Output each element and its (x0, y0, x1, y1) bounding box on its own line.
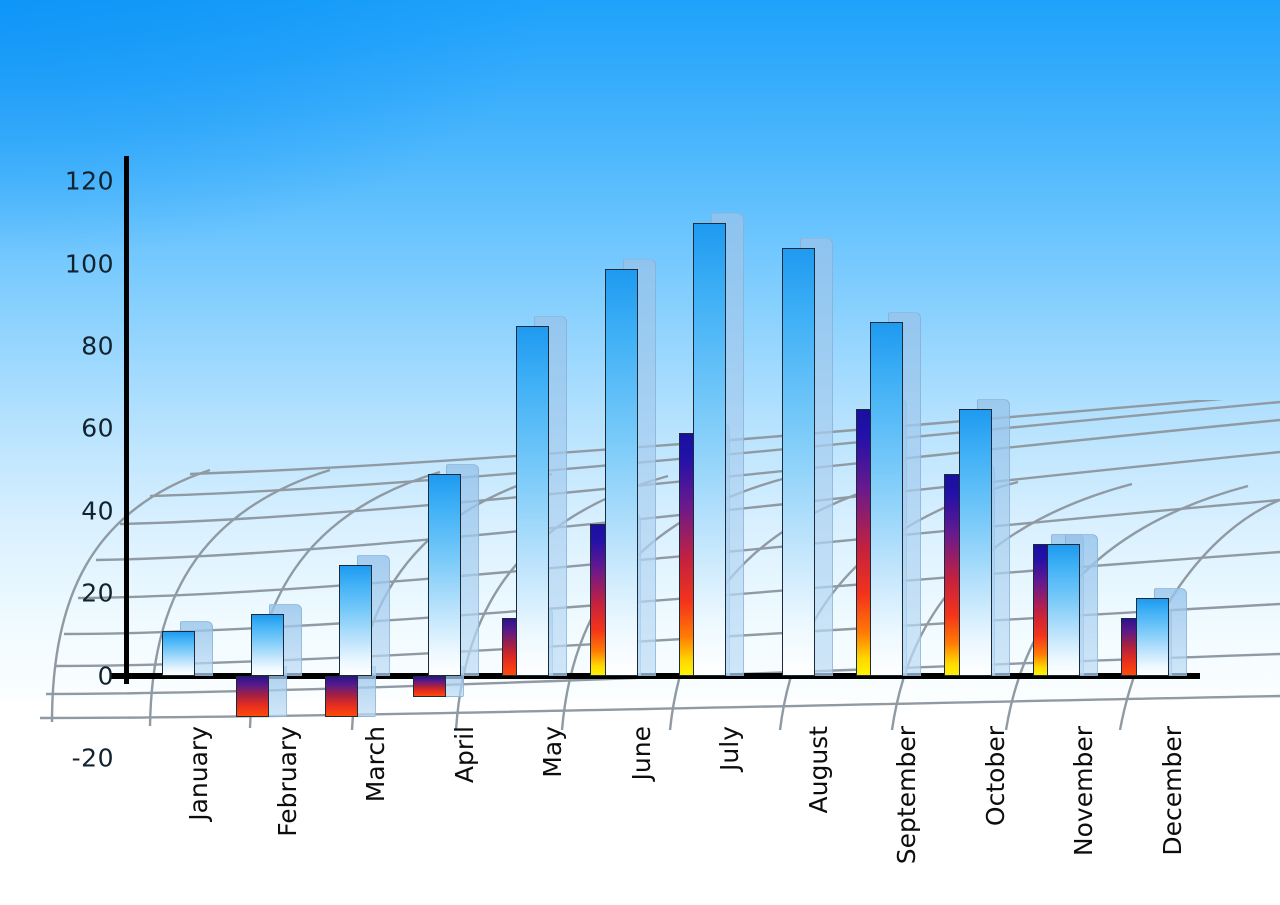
x-label-february: February (273, 726, 302, 837)
x-label-september: September (892, 726, 921, 864)
x-label-october: October (981, 726, 1010, 826)
x-label-august: August (804, 726, 833, 814)
x-label-november: November (1069, 726, 1098, 856)
x-label-july: July (715, 726, 744, 771)
x-label-march: March (361, 726, 390, 802)
x-axis-labels: JanuaryFebruaryMarchAprilMayJuneJulyAugu… (0, 0, 1280, 905)
x-label-may: May (538, 726, 567, 778)
x-label-december: December (1158, 726, 1187, 856)
x-label-april: April (450, 726, 479, 783)
chart-canvas: 120 100 80 60 40 20 0 -20 JanuaryFebruar… (0, 0, 1280, 905)
x-label-january: January (184, 726, 213, 821)
x-label-june: June (627, 726, 656, 780)
